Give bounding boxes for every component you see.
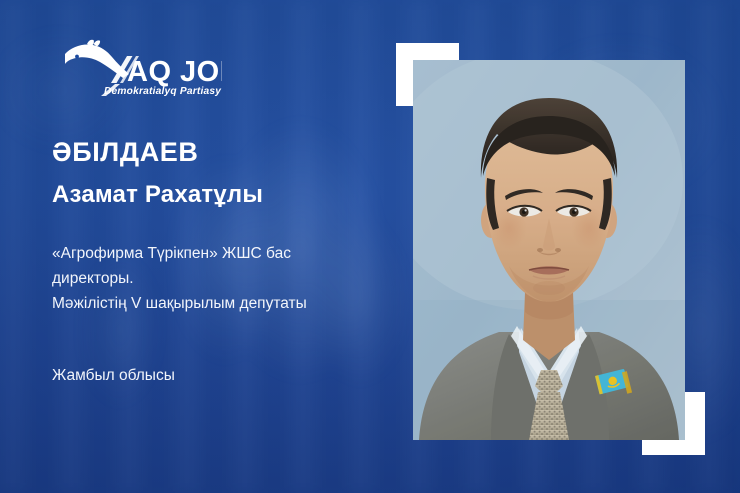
party-logo[interactable]: AQ JOL Demokratialyq Partiasy (57, 38, 222, 100)
person-region: Жамбыл облысы (52, 368, 175, 384)
role-line-1: «Агрофирма Түрікпен» ЖШС бас (52, 241, 382, 266)
role-line-3: Мәжілістің V шақырылым депутаты (52, 291, 382, 316)
party-tagline: Demokratialyq Partiasy (104, 86, 222, 97)
person-given-name: Азамат Рахатұлы (52, 183, 263, 207)
role-line-2: директоры. (52, 266, 382, 291)
person-surname: ӘБІЛДАЕВ (52, 139, 199, 166)
portrait-photo (413, 60, 685, 440)
person-role: «Агрофирма Түрікпен» ЖШС бас директоры. … (52, 241, 382, 316)
party-wordmark: AQ JOL (127, 56, 222, 88)
deputy-profile-card: AQ JOL Demokratialyq Partiasy ӘБІЛДАЕВ А… (0, 0, 740, 493)
